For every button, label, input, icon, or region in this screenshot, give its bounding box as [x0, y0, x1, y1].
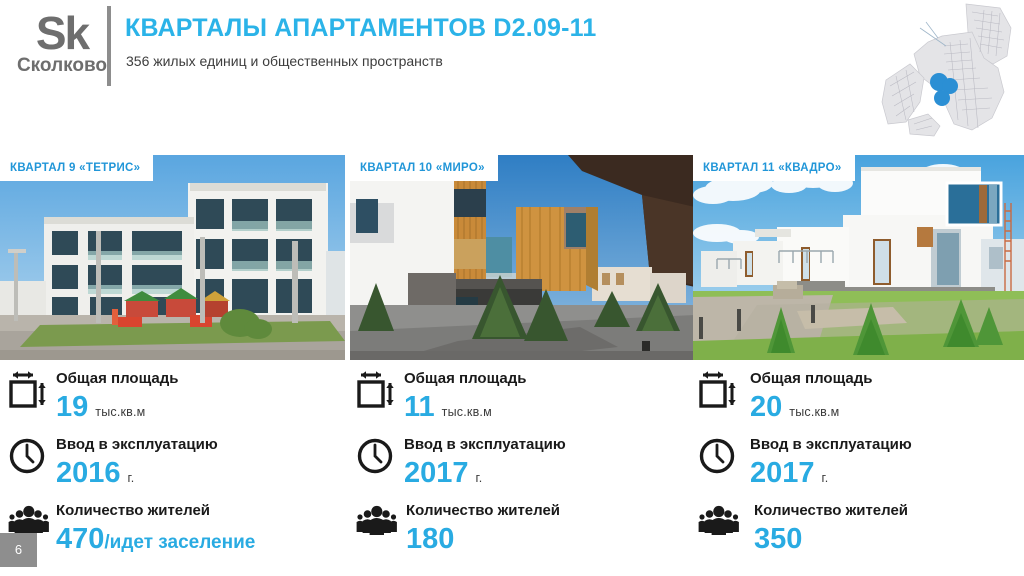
- stat-commissioning-year: Ввод в эксплуатацию 2016г.: [8, 432, 348, 498]
- clock-icon: [698, 436, 740, 476]
- quarter-photo-tetris[interactable]: КВАРТАЛ 9 «ТЕТРИС»: [0, 155, 345, 360]
- quarter-stats-row: Общая площадь 19тыс.кв.м Ввод в эксплуат…: [0, 366, 1024, 576]
- quarter-photo-quadro[interactable]: КВАРТАЛ 11 «КВАДРО»: [693, 155, 1024, 360]
- people-icon: [356, 502, 398, 542]
- page-number-badge: 6: [0, 533, 37, 567]
- stat-residents: Количество жителей 470/идет заселение: [8, 498, 348, 564]
- stat-value: 19: [56, 391, 88, 423]
- slide: Sk Сколково КВАРТАЛЫ АПАРТАМЕНТОВ D2.09-…: [0, 0, 1024, 576]
- skolkovo-logo: Sk Сколково: [12, 6, 112, 90]
- stat-total-area: Общая площадь 20тыс.кв.м: [698, 366, 1024, 432]
- stats-column-quadro: Общая площадь 20тыс.кв.м Ввод в эксплуат…: [698, 366, 1024, 564]
- stat-label: Количество жителей: [754, 501, 908, 520]
- stat-value-row: 2016г.: [56, 456, 134, 490]
- stat-value-row: 20тыс.кв.м: [750, 390, 839, 424]
- stat-unit: тыс.кв.м: [442, 405, 492, 419]
- stat-value-row: 19тыс.кв.м: [56, 390, 145, 424]
- stat-value-row: 470/идет заселение: [56, 522, 255, 556]
- stat-value-row: 180: [406, 522, 454, 556]
- page-title: КВАРТАЛЫ АПАРТАМЕНТОВ D2.09-11: [125, 13, 596, 43]
- stat-value-row: 11тыс.кв.м: [404, 390, 492, 424]
- stat-residents: Количество жителей 350: [698, 498, 1024, 564]
- slide-header: Sk Сколково КВАРТАЛЫ АПАРТАМЕНТОВ D2.09-…: [0, 0, 1024, 148]
- stat-total-area: Общая площадь 11тыс.кв.м: [356, 366, 696, 432]
- logo-mark: Sk: [12, 6, 112, 56]
- stat-value: 350: [754, 523, 802, 555]
- area-icon: [356, 370, 398, 410]
- stat-value: 470: [56, 523, 104, 555]
- stat-suffix: /идет заселение: [104, 532, 255, 553]
- page-subtitle: 356 жилых единиц и общественных простран…: [126, 52, 443, 70]
- logo-wordmark: Сколково: [12, 56, 112, 76]
- stat-value-row: 2017г.: [750, 456, 828, 490]
- stat-label: Общая площадь: [750, 369, 873, 388]
- stats-column-miro: Общая площадь 11тыс.кв.м Ввод в эксплуат…: [356, 366, 696, 564]
- stat-unit: г.: [476, 471, 483, 485]
- stat-unit: тыс.кв.м: [789, 405, 839, 419]
- area-icon: [8, 370, 50, 410]
- stat-value: 2017: [404, 457, 469, 489]
- stat-label: Общая площадь: [56, 369, 179, 388]
- stat-label: Ввод в эксплуатацию: [56, 435, 218, 454]
- stat-unit: г.: [822, 471, 829, 485]
- stat-value: 180: [406, 523, 454, 555]
- quarter-badge-miro: КВАРТАЛ 10 «МИРО»: [350, 155, 498, 181]
- stat-label: Количество жителей: [56, 501, 210, 520]
- clock-icon: [356, 436, 398, 476]
- area-icon: [698, 370, 740, 410]
- stat-unit: тыс.кв.м: [95, 405, 145, 419]
- quarter-photo-miro[interactable]: КВАРТАЛ 10 «МИРО»: [350, 155, 695, 360]
- stat-commissioning-year: Ввод в эксплуатацию 2017г.: [356, 432, 696, 498]
- stat-value: 20: [750, 391, 782, 423]
- stat-label: Количество жителей: [406, 501, 560, 520]
- quarter-badge-tetris: КВАРТАЛ 9 «ТЕТРИС»: [0, 155, 153, 181]
- people-icon: [698, 502, 740, 542]
- stat-value-row: 350: [754, 522, 802, 556]
- stats-column-tetris: Общая площадь 19тыс.кв.м Ввод в эксплуат…: [8, 366, 348, 564]
- stat-total-area: Общая площадь 19тыс.кв.м: [8, 366, 348, 432]
- stat-unit: г.: [128, 471, 135, 485]
- stat-label: Ввод в эксплуатацию: [750, 435, 912, 454]
- clock-icon: [8, 436, 50, 476]
- stat-residents: Количество жителей 180: [356, 498, 696, 564]
- site-plan-map: [880, 2, 1020, 138]
- stat-value: 2016: [56, 457, 121, 489]
- quarter-photo-row: КВАРТАЛ 9 «ТЕТРИС»: [0, 155, 1024, 360]
- stat-value: 2017: [750, 457, 815, 489]
- stat-commissioning-year: Ввод в эксплуатацию 2017г.: [698, 432, 1024, 498]
- stat-value: 11: [404, 391, 435, 423]
- header-divider: [107, 6, 111, 86]
- quarter-badge-quadro: КВАРТАЛ 11 «КВАДРО»: [693, 155, 855, 181]
- stat-label: Ввод в эксплуатацию: [404, 435, 566, 454]
- stat-label: Общая площадь: [404, 369, 527, 388]
- stat-value-row: 2017г.: [404, 456, 482, 490]
